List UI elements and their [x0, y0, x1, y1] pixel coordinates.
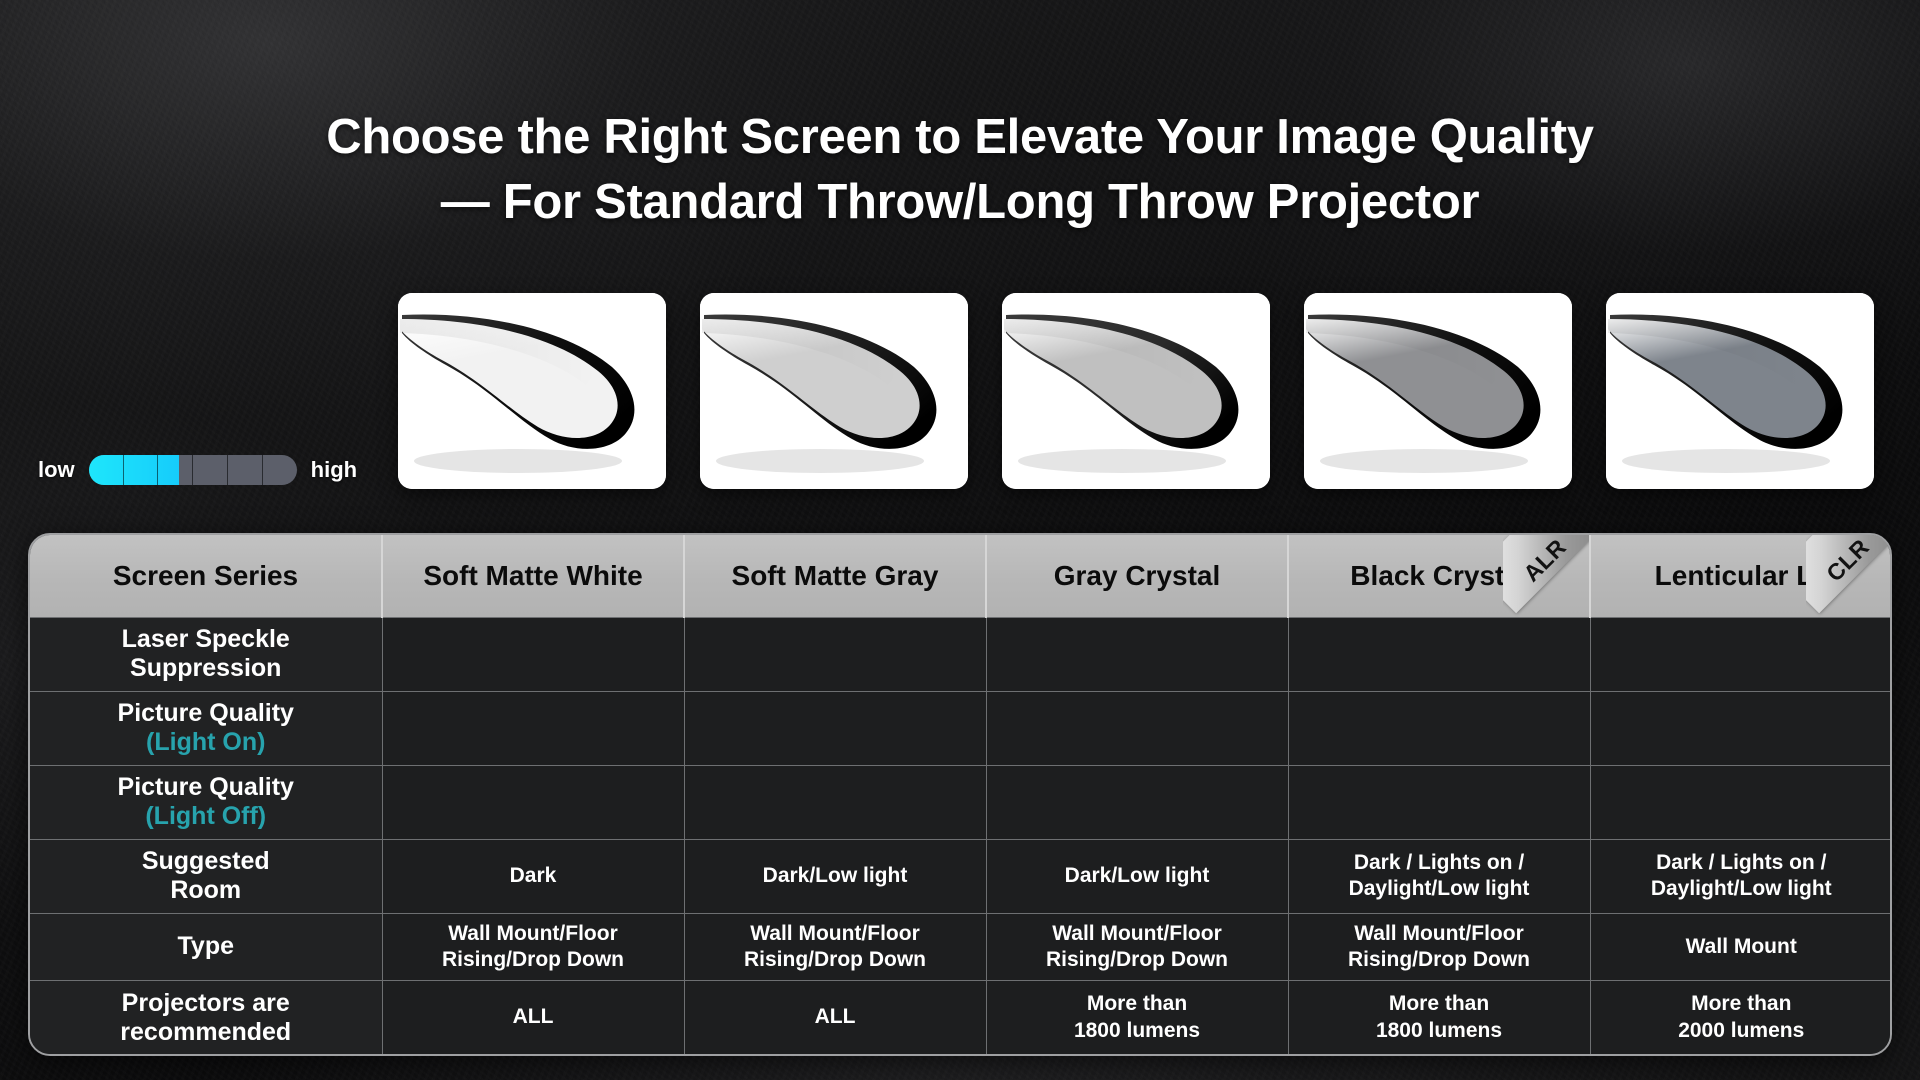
value-cell: ALL — [382, 981, 684, 1054]
row-label-laser-speckle: Laser SpeckleSuppression — [30, 617, 382, 691]
row-label-suggested: SuggestedRoom — [30, 839, 382, 913]
comparison-table-container: Screen SeriesSoft Matte WhiteSoft Matte … — [28, 533, 1892, 1056]
row-label-main: Picture Quality — [118, 699, 294, 727]
column-header-label: Soft Matte Gray — [732, 560, 939, 591]
legend-bar-segment — [228, 455, 263, 485]
value-text: Wall Mount/Floor — [448, 922, 618, 945]
row-label-picture-quality: Picture Quality(Light Off) — [30, 765, 382, 839]
row-label-main: Type — [178, 932, 235, 960]
value-cell: More than1800 lumens — [1288, 981, 1590, 1054]
value-text: 2000 lumens — [1678, 1019, 1804, 1042]
value-text: Dark — [510, 864, 557, 887]
value-text: Daylight/Low light — [1349, 877, 1530, 900]
swatch-strip — [398, 293, 1874, 489]
column-header-label: Black Crystal — [1350, 560, 1527, 591]
column-header-soft-matte-gray: Soft Matte Gray — [684, 535, 986, 617]
soft-matte-white-sample — [398, 293, 666, 489]
value-cell: Wall Mount/FloorRising/Drop Down — [382, 913, 684, 980]
value-text: Wall Mount/Floor — [750, 922, 920, 945]
rating-cell — [1288, 765, 1590, 839]
value-cell: Dark — [382, 839, 684, 913]
row-label-sub: (Light Off) — [38, 802, 374, 831]
value-cell: Wall Mount/FloorRising/Drop Down — [1288, 913, 1590, 980]
value-cell: Wall Mount — [1590, 913, 1892, 980]
value-cell: More than1800 lumens — [986, 981, 1288, 1054]
column-header-label: Soft Matte White — [423, 560, 642, 591]
value-text: ALL — [513, 1005, 554, 1028]
column-header-lenticular-lt: Lenticular LTCLR — [1590, 535, 1892, 617]
row-label-main: Projectors are — [122, 989, 290, 1017]
title-line-1: Choose the Right Screen to Elevate Your … — [0, 105, 1920, 170]
comparison-table: Screen SeriesSoft Matte WhiteSoft Matte … — [30, 535, 1892, 1054]
legend-high-label: high — [311, 457, 357, 483]
value-cell: Wall Mount/FloorRising/Drop Down — [986, 913, 1288, 980]
value-text: 1800 lumens — [1376, 1019, 1502, 1042]
row-label-main: Picture Quality — [118, 773, 294, 801]
legend-bar-segment — [193, 455, 228, 485]
column-header-screen-series: Screen Series — [30, 535, 382, 617]
value-text: Wall Mount — [1686, 935, 1797, 958]
value-cell: ALL — [684, 981, 986, 1054]
value-cell: Wall Mount/FloorRising/Drop Down — [684, 913, 986, 980]
value-text: Dark/Low light — [763, 864, 908, 887]
value-cell: Dark/Low light — [684, 839, 986, 913]
row-label-sub: Suppression — [130, 654, 281, 682]
column-header-label: Gray Crystal — [1054, 560, 1221, 591]
soft-matte-gray-sample — [700, 293, 968, 489]
table-row: SuggestedRoomDarkDark/Low lightDark/Low … — [30, 839, 1892, 913]
value-text: Dark / Lights on / — [1656, 851, 1826, 874]
value-text: Dark/Low light — [1065, 864, 1210, 887]
gray-crystal-sample — [1002, 293, 1270, 489]
value-text: 1800 lumens — [1074, 1019, 1200, 1042]
column-header-soft-matte-white: Soft Matte White — [382, 535, 684, 617]
value-text: Dark / Lights on / — [1354, 851, 1524, 874]
value-text: Wall Mount/Floor — [1052, 922, 1222, 945]
value-cell: Dark / Lights on /Daylight/Low light — [1288, 839, 1590, 913]
black-crystal-sample — [1304, 293, 1572, 489]
value-text: Rising/Drop Down — [744, 948, 926, 971]
rating-cell — [986, 765, 1288, 839]
rating-cell — [382, 617, 684, 691]
table-body: Laser SpeckleSuppressionPicture Quality(… — [30, 617, 1892, 1054]
column-header-label: Lenticular LT — [1655, 560, 1829, 591]
value-text: Wall Mount/Floor — [1354, 922, 1524, 945]
rating-legend: low high — [38, 455, 357, 485]
title-line-2: — For Standard Throw/Long Throw Projecto… — [0, 170, 1920, 235]
table-row: Laser SpeckleSuppression — [30, 617, 1892, 691]
row-label-sub: (Light On) — [38, 728, 374, 757]
row-label-main: Laser Speckle — [122, 625, 290, 653]
rating-cell — [684, 617, 986, 691]
legend-bar-segment — [124, 455, 159, 485]
table-row: Picture Quality(Light On) — [30, 691, 1892, 765]
legend-bar-segment — [263, 455, 297, 485]
column-header-label: Screen Series — [113, 560, 298, 591]
value-text: More than — [1691, 992, 1791, 1015]
column-header-gray-crystal: Gray Crystal — [986, 535, 1288, 617]
value-cell: Dark/Low light — [986, 839, 1288, 913]
table-row: TypeWall Mount/FloorRising/Drop DownWall… — [30, 913, 1892, 980]
rating-cell — [1590, 765, 1892, 839]
rating-cell — [986, 691, 1288, 765]
row-label-sub: recommended — [120, 1018, 291, 1046]
value-text: ALL — [815, 1005, 856, 1028]
rating-cell — [382, 691, 684, 765]
value-text: Rising/Drop Down — [442, 948, 624, 971]
value-text: Rising/Drop Down — [1348, 948, 1530, 971]
row-label-sub: Room — [170, 876, 241, 904]
rating-cell — [1590, 691, 1892, 765]
value-text: Rising/Drop Down — [1046, 948, 1228, 971]
lenticular-lt-sample — [1606, 293, 1874, 489]
value-text: More than — [1087, 992, 1187, 1015]
table-row: Projectors arerecommendedALLALLMore than… — [30, 981, 1892, 1054]
value-text: Daylight/Low light — [1651, 877, 1832, 900]
table-header-row: Screen SeriesSoft Matte WhiteSoft Matte … — [30, 535, 1892, 617]
row-label-main: Suggested — [142, 847, 270, 875]
row-label-picture-quality: Picture Quality(Light On) — [30, 691, 382, 765]
rating-cell — [684, 691, 986, 765]
value-cell: More than2000 lumens — [1590, 981, 1892, 1054]
column-header-black-crystal: Black CrystalALR — [1288, 535, 1590, 617]
table-row: Picture Quality(Light Off) — [30, 765, 1892, 839]
table-header: Screen SeriesSoft Matte WhiteSoft Matte … — [30, 535, 1892, 617]
legend-bar — [89, 455, 297, 485]
rating-cell — [1288, 691, 1590, 765]
legend-low-label: low — [38, 457, 75, 483]
value-text: More than — [1389, 992, 1489, 1015]
rating-cell — [684, 765, 986, 839]
page-title: Choose the Right Screen to Elevate Your … — [0, 105, 1920, 234]
comparison-poster: Choose the Right Screen to Elevate Your … — [0, 0, 1920, 1080]
legend-bar-segment — [158, 455, 193, 485]
rating-cell — [1288, 617, 1590, 691]
legend-bar-segment — [89, 455, 124, 485]
rating-cell — [382, 765, 684, 839]
row-label-projectors-are: Projectors arerecommended — [30, 981, 382, 1054]
value-cell: Dark / Lights on /Daylight/Low light — [1590, 839, 1892, 913]
rating-cell — [1590, 617, 1892, 691]
row-label-type: Type — [30, 913, 382, 980]
rating-cell — [986, 617, 1288, 691]
